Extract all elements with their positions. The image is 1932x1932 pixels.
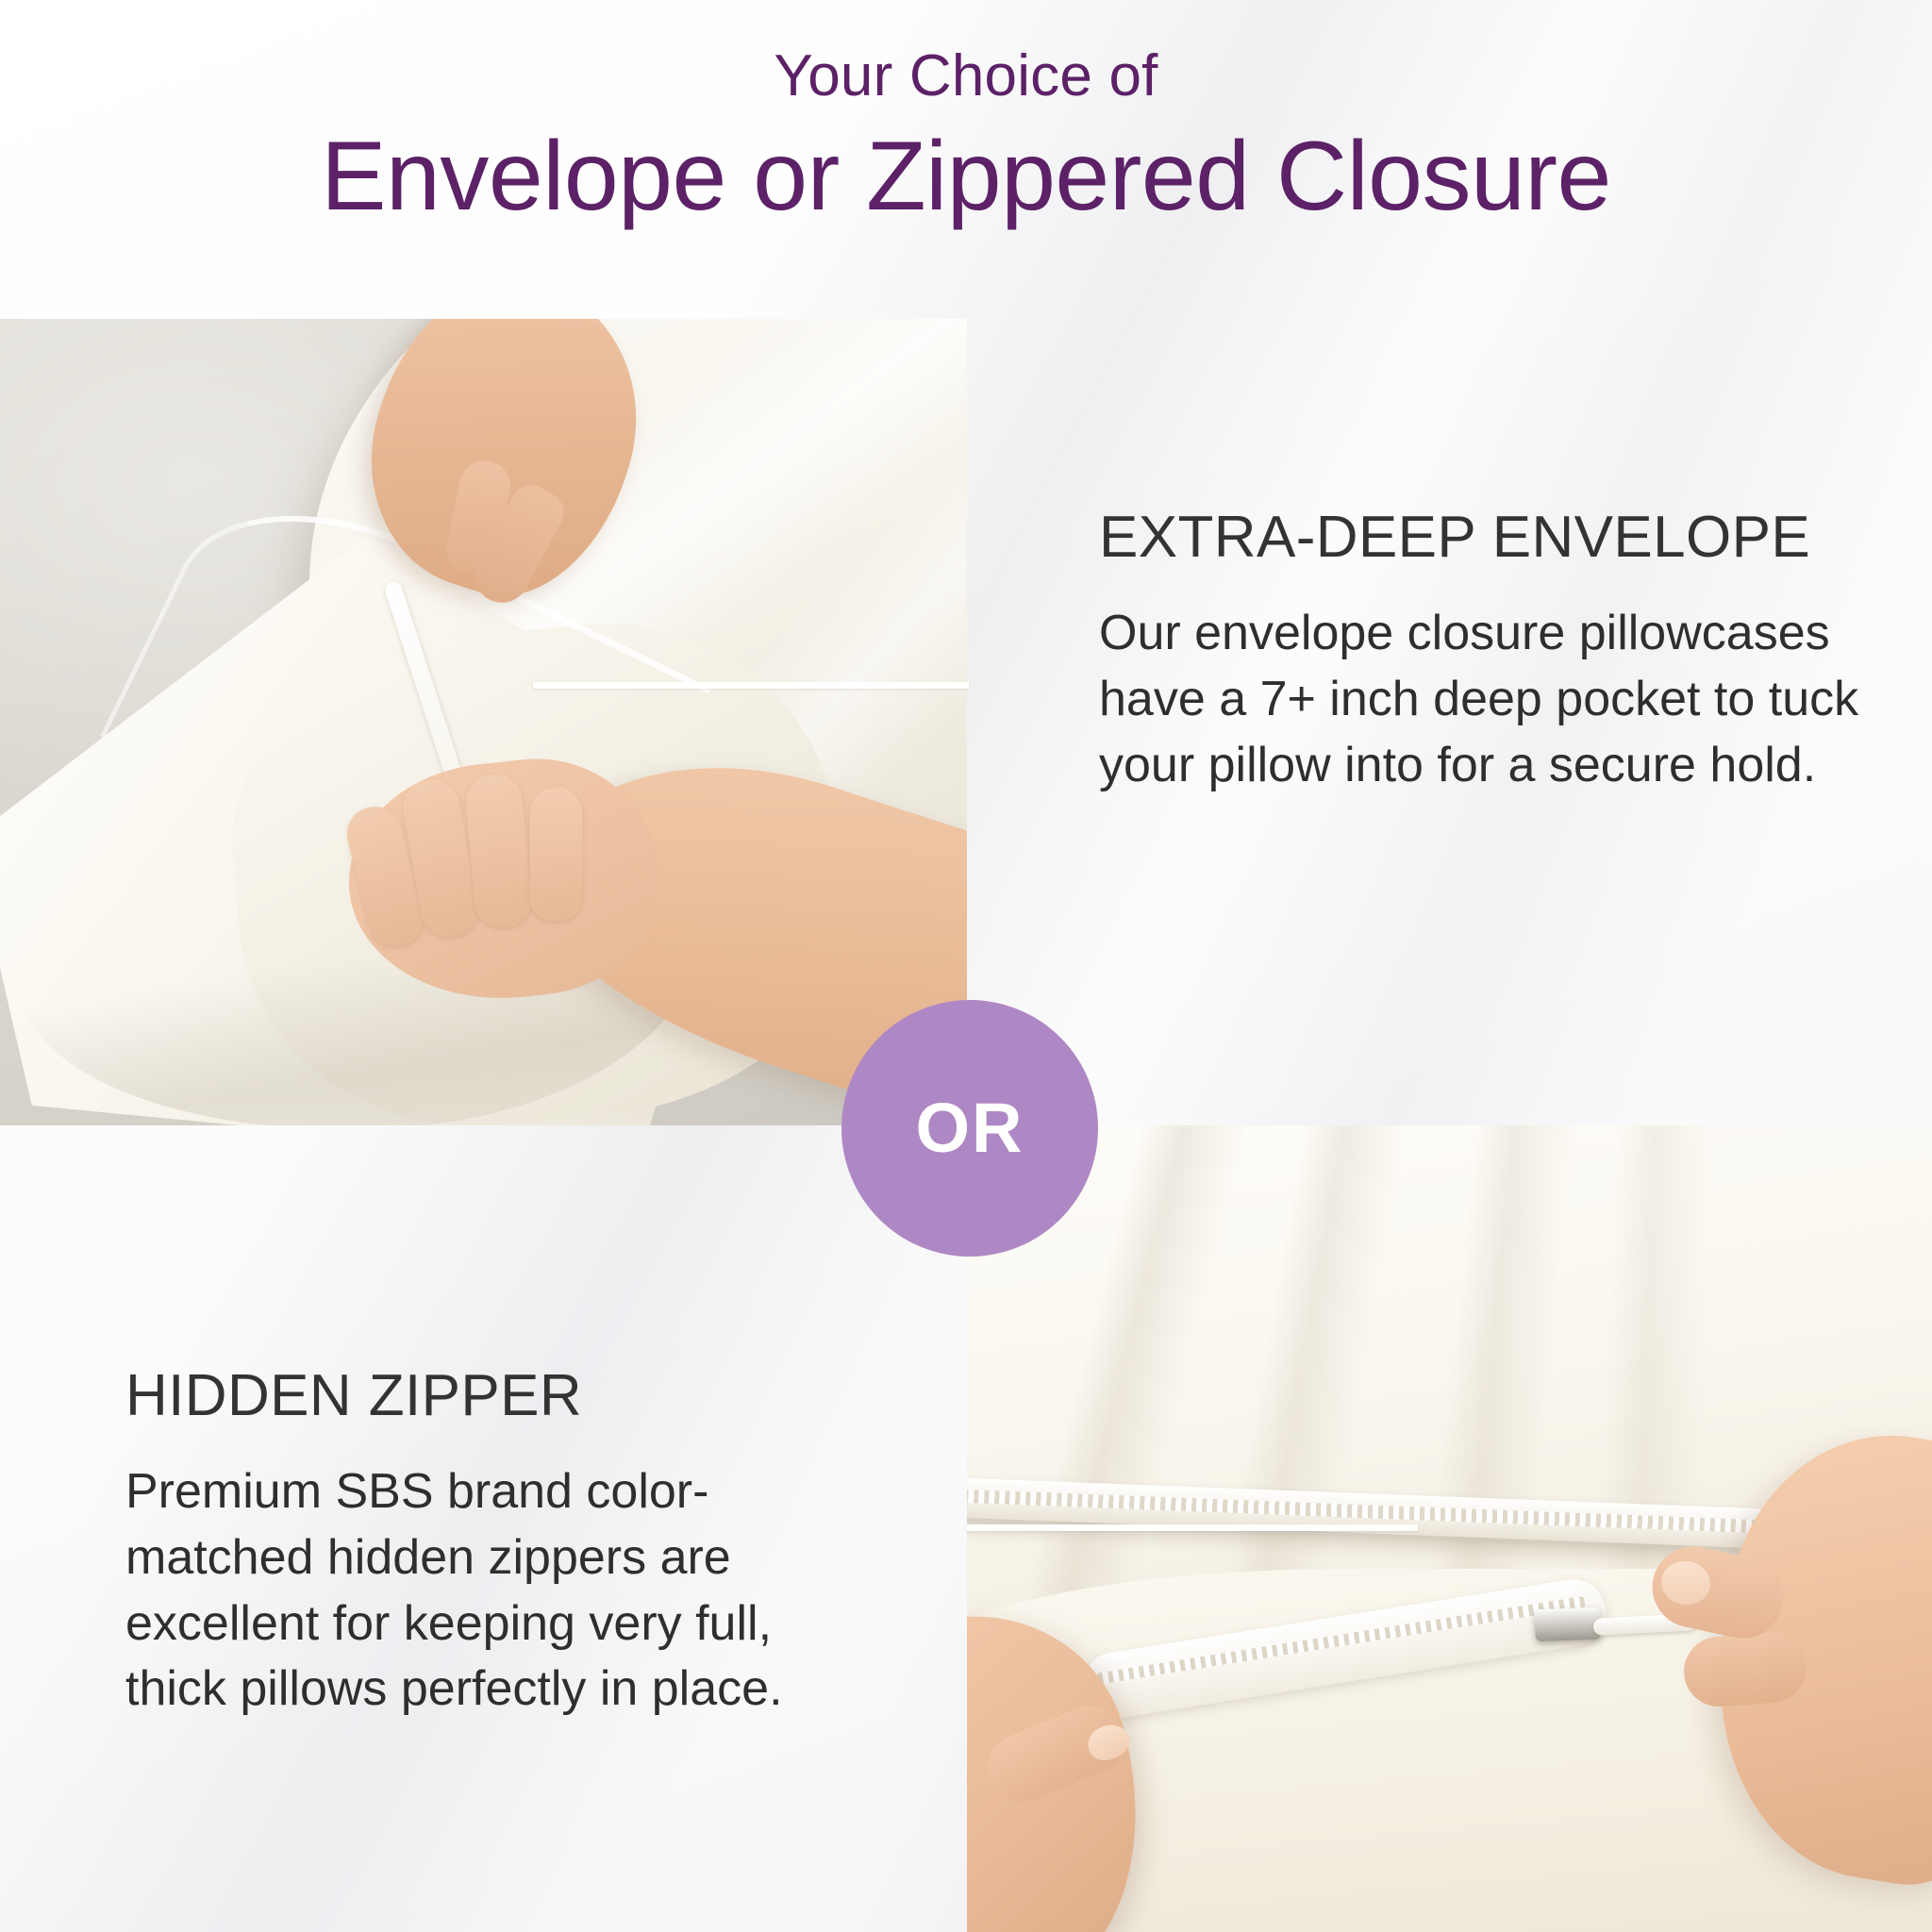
infographic-canvas: Your Choice of Envelope or Zippered Clos… [0, 0, 1932, 1932]
page-title: Envelope or Zippered Closure [321, 122, 1611, 231]
zipper-body: Premium SBS brand color-matched hidden z… [125, 1459, 880, 1723]
zipper-heading: HIDDEN ZIPPER [125, 1366, 880, 1425]
zipper-text-panel: HIDDEN ZIPPER Premium SBS brand color-ma… [0, 1125, 967, 1932]
envelope-text-panel: EXTRA-DEEP ENVELOPE Our envelope closure… [967, 319, 1932, 1125]
header: Your Choice of Envelope or Zippered Clos… [0, 0, 1932, 319]
zipper-leader-line [967, 1524, 1418, 1531]
envelope-leader-line [533, 682, 969, 689]
zipper-slider [1534, 1607, 1601, 1641]
envelope-heading: EXTRA-DEEP ENVELOPE [1099, 508, 1873, 567]
or-badge: OR [841, 1000, 1098, 1257]
envelope-text-block: EXTRA-DEEP ENVELOPE Our envelope closure… [1099, 508, 1873, 798]
or-badge-label: OR [916, 1093, 1024, 1163]
right-hand-finger [1682, 1631, 1809, 1709]
header-kicker: Your Choice of [774, 45, 1158, 107]
envelope-photo [0, 319, 967, 1125]
zipper-text-block: HIDDEN ZIPPER Premium SBS brand color-ma… [125, 1366, 880, 1723]
envelope-body: Our envelope closure pillowcases have a … [1099, 601, 1873, 798]
